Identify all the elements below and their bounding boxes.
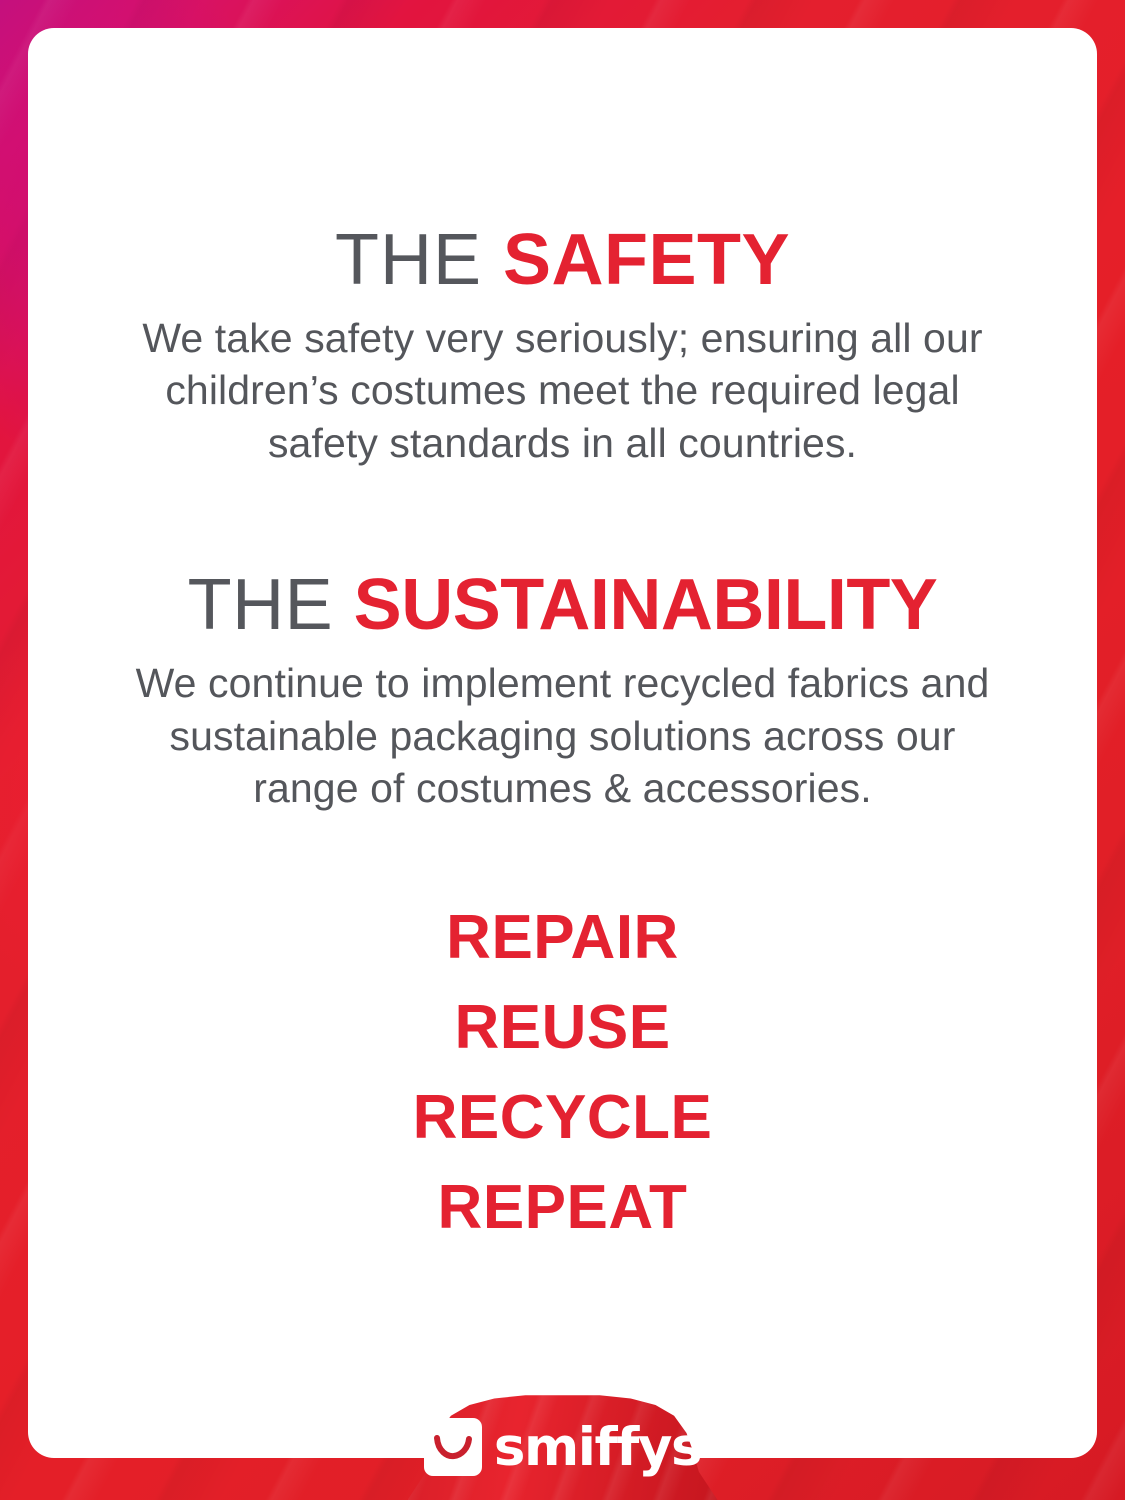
- sustainability-heading-lead: THE: [188, 565, 354, 645]
- brand-name-text: smiffys: [494, 1417, 701, 1478]
- brand-wordmark: smiffys ™: [494, 1421, 701, 1474]
- brand-banner: smiffys ™: [408, 1392, 718, 1500]
- slogan-word-repair: REPAIR: [446, 907, 679, 969]
- brand-logo: smiffys ™: [408, 1418, 718, 1476]
- smile-icon: [424, 1418, 482, 1476]
- safety-heading-highlight: SAFETY: [503, 220, 790, 300]
- safety-heading: THE SAFETY: [118, 224, 1007, 296]
- slogan-word-recycle: RECYCLE: [413, 1087, 713, 1149]
- sustainability-body-text: We continue to implement recycled fabric…: [133, 657, 993, 814]
- poster-canvas: THE SAFETY We take safety very seriously…: [0, 0, 1125, 1500]
- safety-body-text: We take safety very seriously; ensuring …: [123, 312, 1003, 469]
- slogan-list: REPAIR REUSE RECYCLE REPEAT: [118, 907, 1007, 1239]
- sustainability-heading: THE SUSTAINABILITY: [118, 569, 1007, 641]
- slogan-word-reuse: REUSE: [454, 997, 670, 1059]
- slogan-word-repeat: REPEAT: [438, 1177, 688, 1239]
- trademark-icon: ™: [706, 1419, 721, 1434]
- white-content-card: THE SAFETY We take safety very seriously…: [28, 28, 1097, 1458]
- safety-heading-lead: THE: [335, 220, 503, 300]
- sustainability-heading-highlight: SUSTAINABILITY: [354, 565, 938, 645]
- content-column: THE SAFETY We take safety very seriously…: [28, 28, 1097, 1239]
